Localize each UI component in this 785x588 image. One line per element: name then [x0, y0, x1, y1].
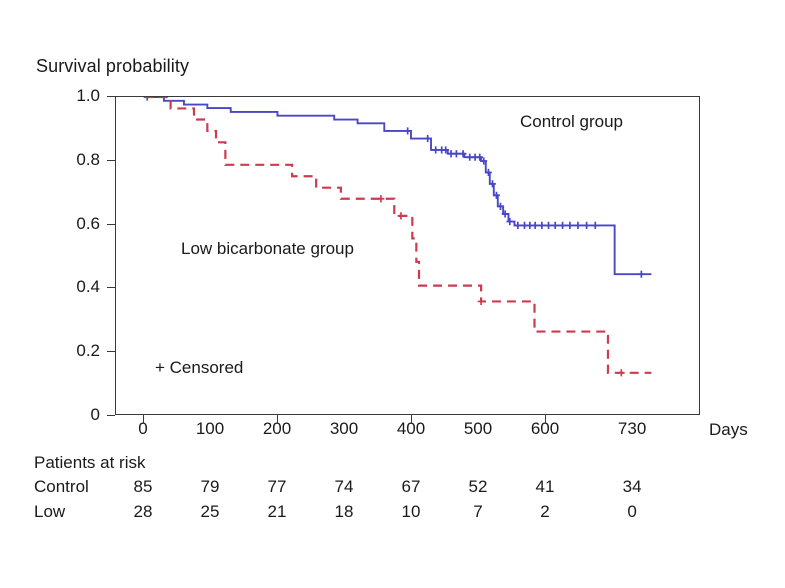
- risk-cell: 52: [448, 474, 508, 499]
- censored-tick-marker: [378, 195, 385, 202]
- series-low-bicarbonate: [144, 97, 651, 376]
- series-label-low-bicarbonate-group: Low bicarbonate group: [181, 239, 354, 259]
- risk-cell: 85: [113, 474, 173, 499]
- risk-table-rows: Control8579777467524134Low2825211810720: [34, 474, 774, 524]
- risk-cell: 74: [314, 474, 374, 499]
- y-tick-mark: [107, 415, 115, 416]
- y-tick-label: 0: [52, 406, 100, 423]
- censored-tick-marker: [638, 271, 645, 278]
- risk-cell: 67: [381, 474, 441, 499]
- y-tick-mark: [107, 160, 115, 161]
- patients-at-risk-table: Patients at risk Control8579777467524134…: [34, 452, 774, 524]
- x-tick-label: 730: [602, 420, 662, 437]
- censored-tick-marker: [424, 135, 431, 142]
- risk-cell: 18: [314, 499, 374, 524]
- x-tick-label: 300: [314, 420, 374, 437]
- y-tick-label: 0.4: [52, 278, 100, 295]
- censored-tick-marker: [567, 222, 574, 229]
- risk-table-row: Low2825211810720: [34, 499, 774, 524]
- y-tick-mark: [107, 287, 115, 288]
- censored-legend-key: + Censored: [155, 358, 243, 378]
- series-label-control-group: Control group: [520, 112, 623, 132]
- survival-chart-figure: Survival probability 1.00.80.60.40.20 01…: [0, 0, 785, 588]
- censored-tick-marker: [592, 222, 599, 229]
- risk-cell: 25: [180, 499, 240, 524]
- risk-cell: 21: [247, 499, 307, 524]
- risk-cell: 0: [602, 499, 662, 524]
- censored-tick-marker: [532, 222, 539, 229]
- risk-cell: 7: [448, 499, 508, 524]
- censored-tick-marker: [559, 222, 566, 229]
- x-tick-label: 100: [180, 420, 240, 437]
- y-tick-label: 1.0: [52, 87, 100, 104]
- censored-tick-marker: [478, 298, 485, 305]
- censored-tick-marker: [460, 150, 467, 157]
- censored-tick-marker: [404, 127, 411, 134]
- censored-tick-marker: [552, 222, 559, 229]
- x-axis-unit-label: Days: [709, 420, 748, 440]
- risk-cell: 77: [247, 474, 307, 499]
- censored-tick-marker: [398, 212, 405, 219]
- x-tick-mark: [545, 415, 546, 423]
- censored-tick-marker: [432, 146, 439, 153]
- censored-tick-marker: [506, 218, 513, 225]
- risk-table-row: Control8579777467524134: [34, 474, 774, 499]
- censored-tick-marker: [583, 222, 590, 229]
- y-tick-label: 0.8: [52, 151, 100, 168]
- survival-curve-line: [144, 97, 651, 373]
- risk-cell: 34: [602, 474, 662, 499]
- x-tick-label: 500: [448, 420, 508, 437]
- x-tick-mark: [143, 415, 144, 423]
- y-tick-label: 0.2: [52, 342, 100, 359]
- y-tick-mark: [107, 96, 115, 97]
- censored-tick-marker: [618, 369, 625, 376]
- censored-tick-marker: [453, 150, 460, 157]
- risk-cell: 79: [180, 474, 240, 499]
- risk-table-title: Patients at risk: [34, 452, 774, 474]
- censored-tick-marker: [514, 222, 521, 229]
- x-tick-mark: [277, 415, 278, 423]
- censored-tick-marker: [476, 154, 483, 161]
- risk-row-label: Low: [34, 499, 65, 524]
- risk-cell: 28: [113, 499, 173, 524]
- risk-cell: 41: [515, 474, 575, 499]
- risk-cell: 10: [381, 499, 441, 524]
- censored-tick-marker: [545, 222, 552, 229]
- y-axis-title: Survival probability: [36, 56, 189, 77]
- risk-row-label: Control: [34, 474, 89, 499]
- y-tick-label: 0.6: [52, 215, 100, 232]
- y-tick-mark: [107, 224, 115, 225]
- risk-cell: 2: [515, 499, 575, 524]
- censored-tick-marker: [538, 222, 545, 229]
- y-tick-mark: [107, 351, 115, 352]
- x-tick-mark: [411, 415, 412, 423]
- censored-tick-marker: [575, 222, 582, 229]
